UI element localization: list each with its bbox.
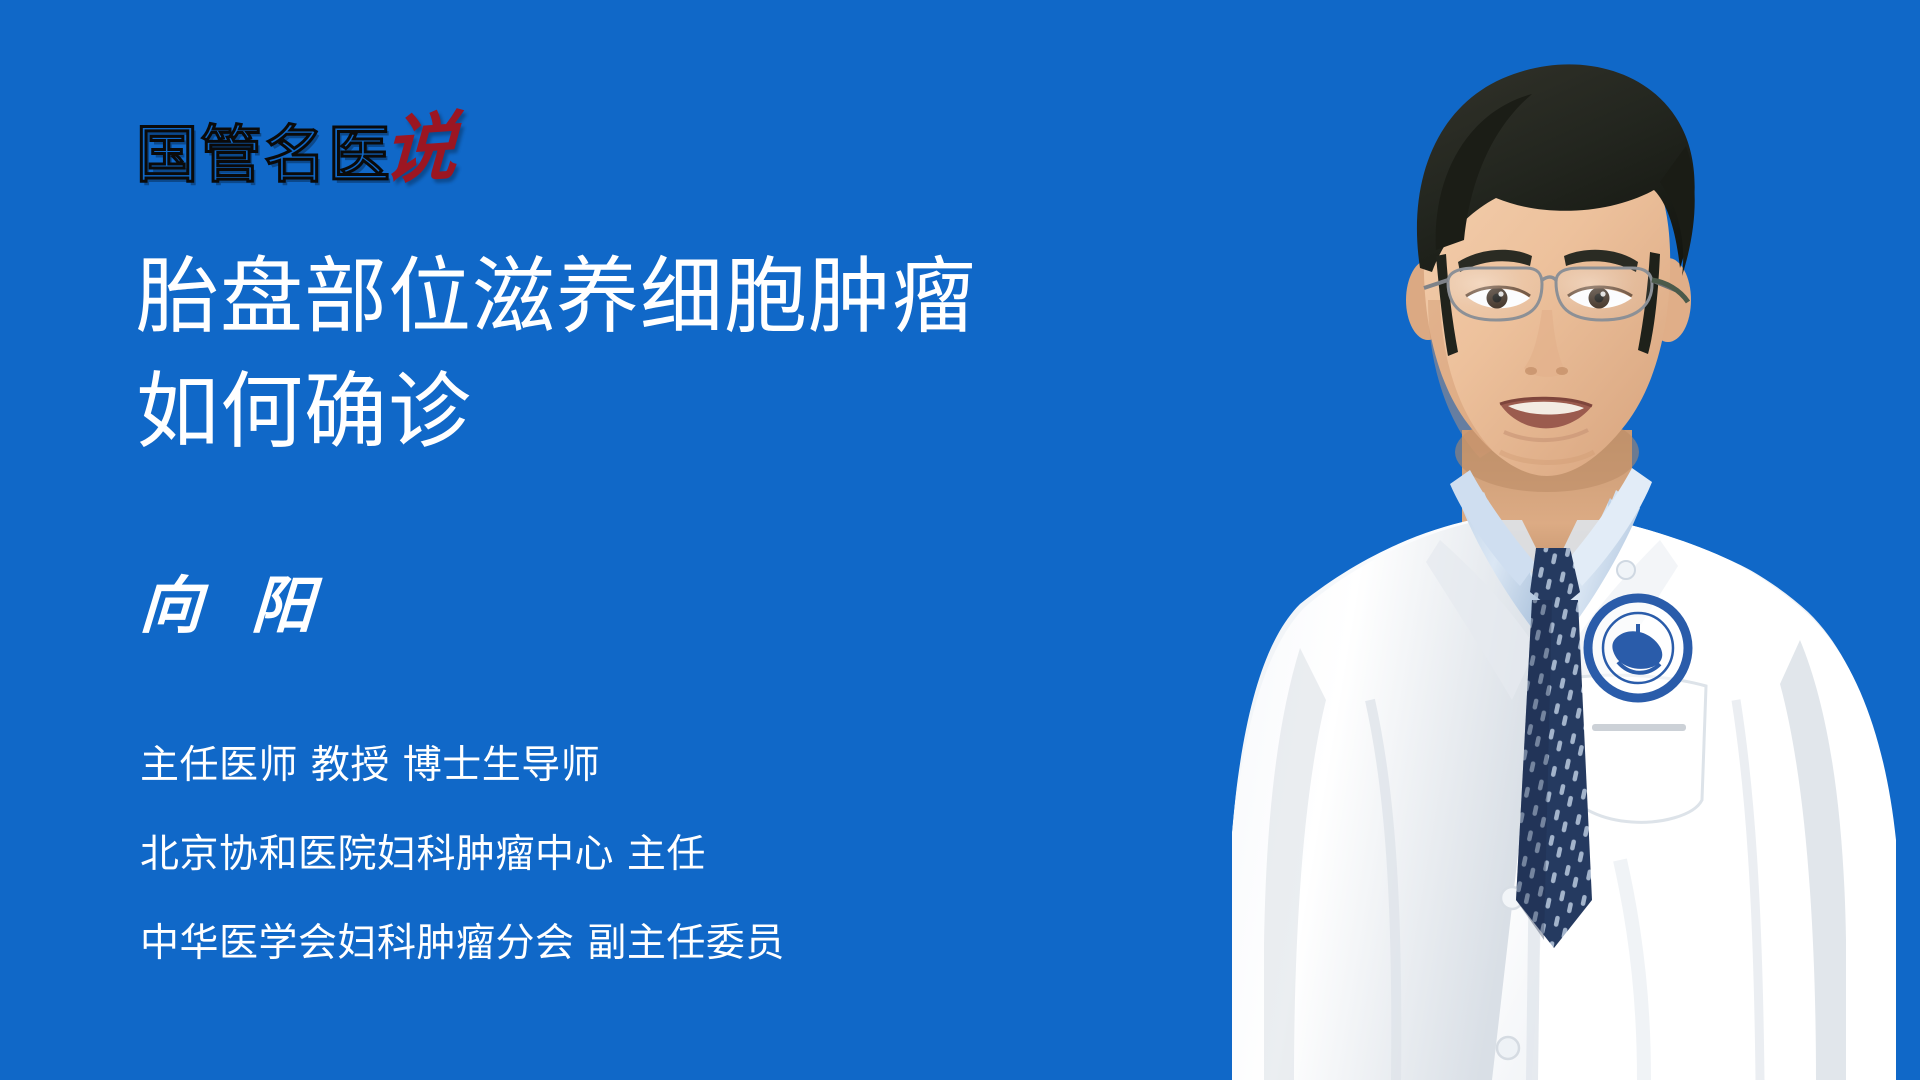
episode-title-line-2: 如何确诊 <box>136 355 1136 470</box>
speaker-credentials: 主任医师 教授 博士生导师 北京协和医院妇科肿瘤中心 主任 中华医学会妇科肿瘤分… <box>140 722 1040 989</box>
head <box>1406 64 1695 476</box>
chest-emblem <box>1584 594 1692 702</box>
program-logo: 国管名医 说 <box>136 104 456 186</box>
speaker-name: 向 阳 <box>138 575 329 637</box>
doctor-portrait <box>1140 0 1920 1080</box>
program-logo-main: 国管名医 <box>136 124 392 186</box>
episode-title-line-1: 胎盘部位滋养细胞肿瘤 <box>136 240 1136 355</box>
video-cover-slide: 国管名医 说 胎盘部位滋养细胞肿瘤 如何确诊 向 阳 主任医师 教授 博士生导师… <box>0 0 1920 1080</box>
credential-line-2: 北京协和医院妇科肿瘤中心 主任 <box>140 811 1040 900</box>
program-logo-accent: 说 <box>382 112 458 186</box>
episode-title: 胎盘部位滋养细胞肿瘤 如何确诊 <box>136 240 1136 469</box>
emblem-subtext <box>1592 724 1686 731</box>
credential-line-1: 主任医师 教授 博士生导师 <box>140 722 1040 811</box>
credential-line-3: 中华医学会妇科肿瘤分会 副主任委员 <box>140 900 1040 989</box>
